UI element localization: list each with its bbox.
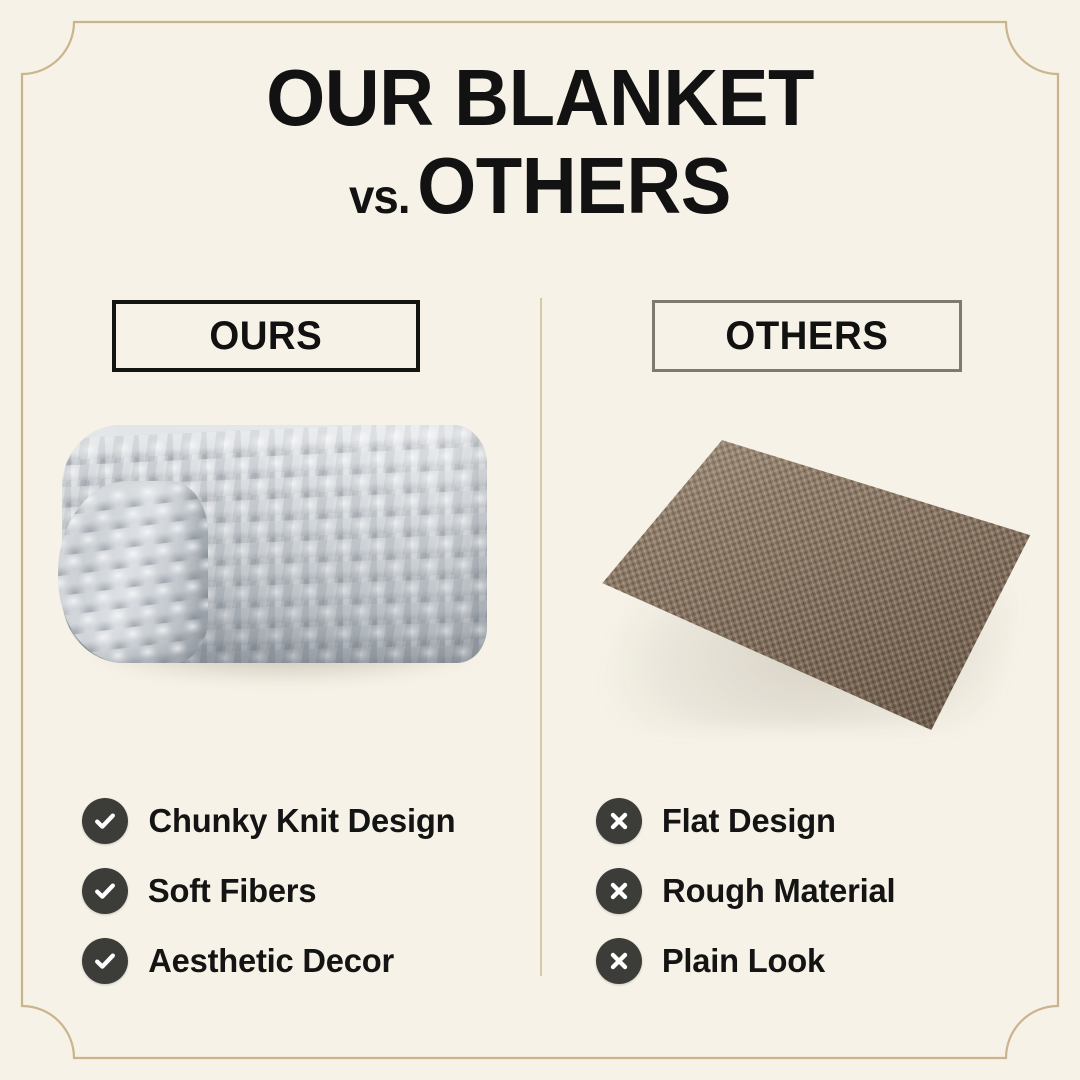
column-header-others: OTHERS	[652, 300, 962, 372]
blanket-illustration	[62, 425, 487, 680]
title-line-one: OUR BLANKET	[27, 60, 1053, 136]
cross-icon	[596, 798, 642, 844]
column-header-ours-label: OURS	[210, 314, 323, 359]
feature-row: Soft Fibers	[82, 856, 522, 926]
blanket-fold-roll	[58, 481, 208, 663]
product-image-ours	[40, 400, 520, 730]
blanket-roll-ridges	[58, 481, 208, 663]
feature-label: Flat Design	[662, 802, 836, 840]
column-header-ours: OURS	[112, 300, 420, 372]
title-vs-text: vs.	[349, 171, 410, 224]
page-title: OUR BLANKET vs.OTHERS	[0, 60, 1080, 224]
feature-row: Chunky Knit Design	[82, 786, 522, 856]
product-image-others	[570, 400, 1050, 730]
title-others-text: OTHERS	[417, 141, 731, 230]
feature-list-ours: Chunky Knit DesignSoft FibersAesthetic D…	[82, 786, 522, 996]
feature-row: Rough Material	[596, 856, 1036, 926]
feature-label: Soft Fibers	[148, 872, 316, 910]
cross-icon	[596, 868, 642, 914]
feature-label: Plain Look	[662, 942, 825, 980]
center-divider	[540, 298, 542, 976]
check-icon	[82, 798, 128, 844]
feature-row: Aesthetic Decor	[82, 926, 522, 996]
feature-label: Chunky Knit Design	[149, 802, 456, 840]
feature-list-others: Flat DesignRough MaterialPlain Look	[596, 786, 1036, 996]
column-header-others-label: OTHERS	[726, 314, 889, 359]
check-icon	[82, 868, 128, 914]
check-icon	[82, 938, 128, 984]
feature-row: Flat Design	[596, 786, 1036, 856]
title-line-two: vs.OTHERS	[27, 148, 1053, 224]
comparison-infographic: OUR BLANKET vs.OTHERS OURS OTHERS	[0, 0, 1080, 1080]
feature-label: Aesthetic Decor	[148, 942, 394, 980]
feature-row: Plain Look	[596, 926, 1036, 996]
mat-illustration	[584, 418, 1044, 738]
cross-icon	[596, 938, 642, 984]
feature-label: Rough Material	[662, 872, 895, 910]
